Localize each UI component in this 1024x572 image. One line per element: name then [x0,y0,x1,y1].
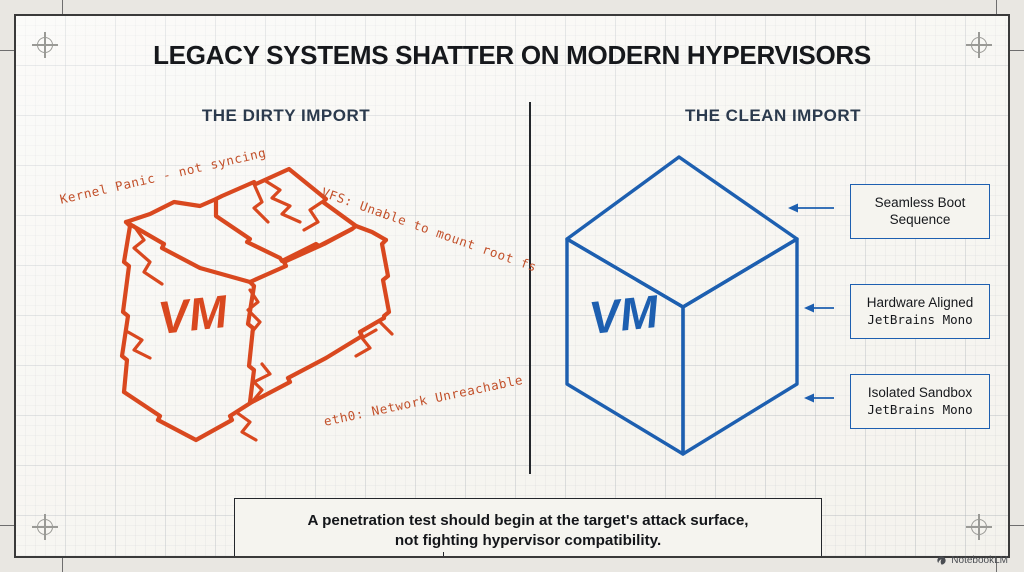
column-header-clean: THE CLEAN IMPORT [608,106,938,126]
notebooklm-watermark: NotebookLM [936,555,1008,566]
callout-seamless-boot[interactable]: Seamless Boot Sequence [850,184,990,239]
clean-vm-cube: VM [561,144,841,454]
callout-2-line2: JetBrains Mono [861,312,979,328]
dirty-cube-vm-label: VM [156,285,232,344]
dirty-vm-cube: VM [104,144,404,444]
callout-3-line2: JetBrains Mono [861,402,979,418]
caption-line-2: not fighting hypervisor compatibility. [249,531,807,551]
callout-1-line1: Seamless Boot [861,194,979,211]
center-divider [529,102,531,474]
watermark-label: NotebookLM [951,555,1008,566]
caption-box: A penetration test should begin at the t… [234,498,822,558]
footer-doc-id: DOC-2845-A REV 1.2 [235,552,444,558]
registration-mark-bottom-left [32,514,58,540]
callout-3-line1: Isolated Sandbox [861,384,979,401]
caption-line-1: A penetration test should begin at the t… [249,511,807,531]
callout-hardware-aligned[interactable]: Hardware Aligned JetBrains Mono [850,284,990,339]
callout-2-line1: Hardware Aligned [861,294,979,311]
registration-mark-bottom-right [966,514,992,540]
column-header-dirty: THE DIRTY IMPORT [121,106,451,126]
callout-isolated-sandbox[interactable]: Isolated Sandbox JetBrains Mono [850,374,990,429]
callout-1-line2: Sequence [861,211,979,228]
page-title: LEGACY SYSTEMS SHATTER ON MODERN HYPERVI… [14,42,1010,71]
footer-strip: DOC-2845-A REV 1.2 ENGINEERING MANUAL - … [234,552,822,558]
diagram-page: LEGACY SYSTEMS SHATTER ON MODERN HYPERVI… [0,0,1024,572]
clean-cube-vm-label: VM [587,285,663,344]
footer-section: ENGINEERING MANUAL - SECTION 4.1 [444,552,821,558]
notebooklm-logo-icon [936,555,947,566]
blueprint-frame: LEGACY SYSTEMS SHATTER ON MODERN HYPERVI… [14,14,1010,558]
